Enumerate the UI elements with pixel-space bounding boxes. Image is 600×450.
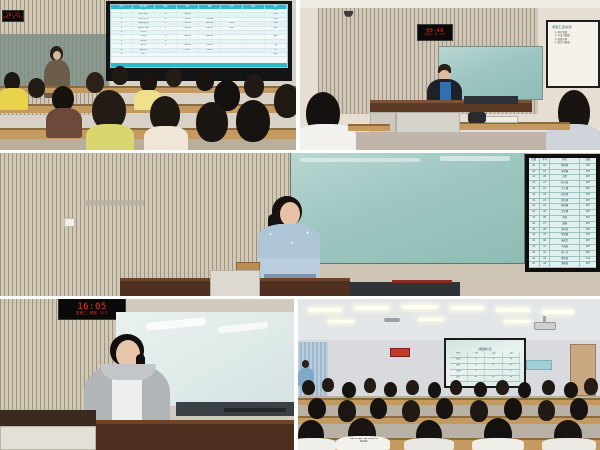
projected-spreadsheet: 序号 项目名称 数量 单价 金额 比例 备注 合计 1合计12002教学 经费1…: [110, 4, 288, 68]
roster-cell: 33: [540, 257, 551, 262]
spreadsheet-cell: [177, 40, 199, 43]
spreadsheet-cell: 95: [265, 49, 287, 52]
spreadsheet-cell: 95.00: [199, 49, 221, 52]
roster-col-head: 成绩: [580, 158, 596, 163]
roster-cell: 徐若楠: [550, 233, 579, 238]
roster-cell: 01: [529, 257, 540, 262]
led-clock-top-left: 10:35 星期三 晴 27℃: [2, 10, 24, 22]
spreadsheet-cell: 1: [155, 49, 177, 52]
ceiling: [300, 0, 600, 8]
spreadsheet-cell: 5: [155, 22, 177, 25]
spreadsheet-cell: [221, 53, 243, 56]
spreadsheet-cell: [221, 9, 243, 12]
ceiling-lamp: [542, 310, 574, 314]
student-desk: [348, 124, 390, 131]
audience-head: [518, 382, 531, 398]
spreadsheet-cell: 资料费: [133, 40, 155, 43]
roster-cell: 31: [540, 245, 551, 250]
spreadsheet-cell: [265, 31, 287, 34]
spreadsheet-cell: [243, 40, 265, 43]
spreadsheet-cell: [243, 22, 265, 25]
projected-col-head: 项目: [450, 352, 468, 357]
roster-cell: 马雨辰: [550, 245, 579, 250]
spreadsheet-cell: 630.00: [199, 27, 221, 30]
roster-cell: 487: [580, 204, 596, 209]
roster-cell: 吴文博: [550, 210, 579, 215]
spreadsheet-cell: 210.00: [177, 27, 199, 30]
roster-cell: 487: [580, 193, 596, 198]
audience-head: [370, 398, 387, 419]
roster-cell: 487: [580, 181, 596, 186]
audience-torso: [298, 438, 336, 450]
ceiling-lamp: [504, 320, 530, 323]
projector-icon: [534, 322, 556, 330]
spreadsheet-body: 1合计12002教学 经费12100.0012003实验 材料 费8150.00…: [111, 9, 287, 63]
student-head: [86, 72, 104, 93]
student-head: [196, 70, 214, 91]
roster-cell: 487: [580, 199, 596, 204]
spreadsheet-cell: 2: [111, 13, 133, 16]
projected-cell: 12: [468, 358, 486, 363]
roster-cell: 487: [580, 216, 596, 221]
audience-torso: [404, 438, 454, 450]
roster-cell: 01: [529, 262, 540, 267]
audience-head: [322, 378, 334, 392]
desk-foreground: [96, 420, 296, 450]
projected-cell: 合格: [450, 370, 468, 375]
light-switch: [64, 218, 75, 227]
spreadsheet-cell: [221, 13, 243, 16]
ceiling-fan-icon: [384, 318, 400, 322]
spreadsheet-cell: 7: [111, 35, 133, 38]
audience-head: [308, 398, 326, 419]
roster-cell: 01: [529, 170, 540, 175]
spreadsheet-cell: [243, 35, 265, 38]
audience-head: [338, 400, 356, 422]
roster-cell: 周诗琪: [550, 199, 579, 204]
spreadsheet-cell: [243, 44, 265, 47]
projected-cell: 14: [503, 358, 521, 363]
wall-monitor-roster: 班级学号姓名成绩0118陈晓明4870119李雨桐4870120刘青487012…: [525, 154, 600, 272]
spreadsheet-cell: [221, 49, 243, 52]
panel-student-beside-greenboard: 班级学号姓名成绩0118陈晓明4870119李雨桐4870120刘青487012…: [0, 152, 600, 298]
student-face: [280, 202, 300, 226]
teacher-console: [464, 96, 518, 104]
spreadsheet-cell: [199, 53, 221, 56]
spreadsheet-cell: 办公费: [133, 31, 155, 34]
audience-head: [406, 380, 419, 395]
spreadsheet-cell: [243, 9, 265, 12]
roster-cell: 34: [540, 262, 551, 267]
spreadsheet-cell: 8: [155, 18, 177, 21]
audience-head: [584, 378, 598, 395]
panel-student-in-grey-hoodie: 16:05 星期三 晴度 22℃: [0, 298, 296, 450]
roster-cell: 18: [540, 164, 551, 169]
projected-slide: 课程汇报提纲 1. 研究背景 2. 方法与数据 3. 结果分析 4. 结论与展望: [546, 20, 600, 88]
spreadsheet-cell: 1: [111, 9, 133, 12]
roster-cell: 487: [580, 210, 596, 215]
roster-col-head: 班级: [529, 158, 540, 163]
projector-mount: [543, 316, 546, 323]
wall-notice: [526, 360, 552, 370]
student-torso: [86, 124, 134, 152]
console-left: [0, 410, 96, 426]
panel-large-lecture-hall: 成绩统计表项目一班二班三班优秀121014良好202219合格876总计4039…: [298, 298, 600, 450]
student-head: [244, 74, 264, 98]
roster-cell: 何丽: [550, 216, 579, 221]
spreadsheet-cell: 1200.00: [199, 18, 221, 21]
spreadsheet-cell: 差旅费 报销: [133, 27, 155, 30]
roster-cell: 141: [580, 257, 596, 262]
roster-cell: 21: [540, 181, 551, 186]
spreadsheet-cell: 5: [111, 27, 133, 30]
board-glare: [300, 158, 420, 162]
audience-head: [504, 398, 522, 420]
roster-cell: 01: [529, 245, 540, 250]
roster-cell: 487: [580, 170, 596, 175]
spreadsheet-cell: [221, 31, 243, 34]
led-clock-sub: 星期三 晴 26℃: [424, 34, 445, 37]
audience-head: [428, 382, 441, 398]
pointer-stick: [392, 280, 452, 283]
spreadsheet-cell: [243, 27, 265, 30]
spreadsheet-cell: [243, 18, 265, 21]
exit-sign: [390, 348, 410, 357]
projected-cell: 22: [485, 364, 503, 369]
spreadsheet-cell: 总计: [133, 53, 155, 56]
spreadsheet-footer-band: [111, 63, 287, 67]
roster-cell: 25: [540, 210, 551, 215]
spreadsheet-cell: [221, 18, 243, 21]
spreadsheet-cell: 10: [111, 49, 133, 52]
roster-cell: 刘青: [550, 175, 579, 180]
roster-cell: 01: [529, 216, 540, 221]
bag-on-desk: [468, 112, 486, 123]
spreadsheet-cell: 8: [111, 40, 133, 43]
ceiling: [298, 298, 600, 340]
roster-cell: 487: [580, 233, 596, 238]
divider-horizontal-lower: [0, 296, 600, 299]
spreadsheet-cell: 800.00: [199, 35, 221, 38]
roster-cell: 487: [580, 251, 596, 256]
audience-head: [474, 382, 487, 397]
spreadsheet-cell: 4: [111, 22, 133, 25]
student-head: [140, 72, 157, 92]
spreadsheet-cell: 4: [155, 44, 177, 47]
books-on-desk: [484, 116, 518, 123]
spreadsheet-cell: 12: [155, 13, 177, 16]
roster-col-head: 姓名: [550, 158, 579, 163]
spreadsheet-cell: 1200: [265, 18, 287, 21]
podium-cabinet: [210, 270, 260, 298]
spreadsheet-cell: 720.00: [199, 44, 221, 47]
led-clock-sub: 星期三 晴 27℃: [3, 17, 23, 19]
spreadsheet-cell: [265, 40, 287, 43]
ceiling-lamp: [402, 305, 438, 309]
roster-table: 班级学号姓名成绩0118陈晓明4870119李雨桐4870120刘青487012…: [529, 158, 596, 268]
roster-col-head: 学号: [540, 158, 551, 163]
spreadsheet-cell: 6245: [265, 53, 287, 56]
green-writing-board: [290, 152, 525, 264]
spreadsheet-cell: [177, 53, 199, 56]
roster-cell: 487: [580, 228, 596, 233]
student-torso: [0, 88, 28, 110]
audience-head: [450, 380, 462, 395]
divider-vertical-bottom: [294, 298, 298, 450]
student-torso: [46, 108, 82, 138]
roster-cell: 郑可欣: [550, 228, 579, 233]
spreadsheet-cell: 3: [155, 27, 177, 30]
spreadsheet-cell: 合计: [133, 9, 155, 12]
spreadsheet-cell: [243, 13, 265, 16]
roster-cell: 19: [540, 170, 551, 175]
spreadsheet-cell: 其他支出: [133, 49, 155, 52]
projected-cell: 8: [468, 370, 486, 375]
roster-cell: 487: [580, 245, 596, 250]
spreadsheet-cell: [155, 53, 177, 56]
audience-head: [470, 400, 488, 422]
spreadsheet-cell: 1600: [265, 22, 287, 25]
spreadsheet-cell: 12.00: [221, 22, 243, 25]
roster-cell: 01: [529, 222, 540, 227]
spreadsheet-cell: 800: [265, 35, 287, 38]
student-head: [112, 66, 128, 85]
projected-cell: 良好: [450, 364, 468, 369]
projected-cell: 6: [503, 370, 521, 375]
spreadsheet-cell: 9: [111, 44, 133, 47]
tshirt-print: GET OVER THE LOVE OF MUSIC: [350, 438, 378, 447]
roster-cell: 487: [580, 175, 596, 180]
roster-cell: 32: [540, 251, 551, 256]
spreadsheet-cell: 设备购置费: [133, 22, 155, 25]
spreadsheet-cell: [243, 53, 265, 56]
roster-row: 0134谢昕怡487: [529, 262, 596, 268]
roster-cell: 01: [529, 164, 540, 169]
spreadsheet-cell: 教学 经费: [133, 13, 155, 16]
audience-torso: [542, 438, 596, 450]
spreadsheet-cell: 6: [155, 40, 177, 43]
roster-cell: 27: [540, 222, 551, 227]
roster-cell: 24: [540, 204, 551, 209]
audience-head: [564, 382, 578, 398]
student-head: [166, 68, 182, 87]
ceiling-lamp: [418, 318, 444, 321]
audience-head: [302, 380, 315, 395]
roster-cell: 郭宇航: [550, 257, 579, 262]
projected-cell: 优秀: [450, 358, 468, 363]
instructor-face: [53, 51, 61, 60]
audience-head: [342, 382, 356, 398]
panel-lecturer-with-spreadsheet: 10:35 星期三 晴 27℃ 序号 项目名称 数量 单价 金额 比例 备注 合…: [0, 0, 298, 152]
roster-cell: 22: [540, 193, 551, 198]
projected-cell: 19: [503, 364, 521, 369]
roster-cell: 487: [580, 222, 596, 227]
divider-vertical-top: [296, 0, 300, 152]
spreadsheet-cell: 2: [155, 35, 177, 38]
roster-cell: 487: [580, 187, 596, 192]
spreadsheet-cell: 100.00: [177, 13, 199, 16]
ceiling-lamp: [450, 306, 484, 310]
roster-cell: 谢昕怡: [550, 262, 579, 267]
spreadsheet-cell: 1200: [265, 9, 287, 12]
slide-bullet: 4. 结论与展望: [552, 41, 594, 44]
audience-head: [538, 400, 555, 421]
spreadsheet-cell: 3: [111, 18, 133, 21]
projected-col-head: 一班: [468, 352, 486, 357]
roster-cell: 23: [540, 199, 551, 204]
ceiling-lamp: [496, 308, 530, 312]
slide-title: 课程汇报提纲: [552, 25, 594, 29]
spreadsheet-cell: [199, 13, 221, 16]
roster-cell: 01: [529, 210, 540, 215]
spreadsheet-cell: [177, 9, 199, 12]
roster-cell: 28: [540, 228, 551, 233]
roster-cell: 陈晓明: [550, 164, 579, 169]
student-top-pattern: [258, 224, 320, 258]
roster-cell: 01: [529, 175, 540, 180]
roster-cell: 01: [529, 199, 540, 204]
student-head: [28, 78, 45, 98]
spreadsheet-cell: 维护费: [133, 44, 155, 47]
spreadsheet-cell: [177, 31, 199, 34]
spreadsheet-cell: 95.00: [177, 49, 199, 52]
roster-cell: 01: [529, 239, 540, 244]
board-glare: [440, 156, 510, 161]
roster-cell: 20: [540, 175, 551, 180]
ceiling-lamp: [354, 306, 390, 310]
spreadsheet-cell: [221, 40, 243, 43]
roster-cell: 01: [529, 204, 540, 209]
audience-head: [384, 382, 397, 397]
projected-cell: 40: [468, 376, 486, 381]
roster-cell: 01: [529, 193, 540, 198]
ceiling-lamp: [328, 320, 354, 323]
led-clock-top-right: 09:48 星期三 晴 26℃: [417, 24, 453, 41]
audience-head: [436, 398, 453, 419]
spreadsheet-cell: 150.00: [177, 18, 199, 21]
led-clock-sub: 星期三 晴度 22℃: [76, 312, 108, 316]
student-head: [196, 102, 228, 142]
student-head: [236, 100, 270, 142]
roster-cell: 30: [540, 239, 551, 244]
spreadsheet-cell: 630: [265, 27, 287, 30]
spreadsheet-cell: [243, 49, 265, 52]
projected-cell: 20: [468, 364, 486, 369]
student-torso: [144, 126, 188, 152]
roster-cell: 高一凡: [550, 251, 579, 256]
roster-cell: 黄静: [550, 222, 579, 227]
spreadsheet-cell: [155, 31, 177, 34]
spreadsheet-cell: 实验 材料 费: [133, 18, 155, 21]
roster-cell: 林思睿: [550, 204, 579, 209]
roster-cell: 487: [580, 239, 596, 244]
roster-cell: 29: [540, 233, 551, 238]
desk-edge: [96, 420, 296, 424]
wall-sign: [84, 200, 144, 206]
spreadsheet-cell: 400.00: [177, 35, 199, 38]
spreadsheet-cell: [199, 9, 221, 12]
ceiling-lamp: [308, 308, 342, 312]
audience-head: [496, 380, 509, 395]
roster-cell: 01: [529, 233, 540, 238]
audience-head: [570, 398, 588, 420]
divider-horizontal-upper: [0, 150, 600, 153]
spreadsheet-cell: [199, 31, 221, 34]
roster-cell: 01: [529, 228, 540, 233]
spreadsheet-cell: 180.00: [177, 44, 199, 47]
audience-head: [364, 378, 376, 393]
spreadsheet-cell: 8.00: [221, 27, 243, 30]
roster-cell: 王子涵: [550, 187, 579, 192]
roster-cell: 朱俊杰: [550, 239, 579, 244]
hoodie-hood: [100, 364, 156, 380]
spreadsheet-cell: [155, 9, 177, 12]
spreadsheet-cell: [243, 31, 265, 34]
student-desk: [460, 122, 570, 130]
spreadsheet-cell: [199, 40, 221, 43]
roster-cell: 487: [580, 164, 596, 169]
spreadsheet-cell: [221, 44, 243, 47]
audience-head: [542, 380, 555, 395]
spreadsheet-cell: 720: [265, 44, 287, 47]
roster-cell: 01: [529, 181, 540, 186]
pointer-stick: [224, 408, 286, 412]
panel-student-presenting-at-podium: 09:48 星期三 晴 26℃ 课程汇报提纲 1. 研究背景 2. 方法与数据 …: [300, 0, 600, 152]
spreadsheet-cell: 培训费: [133, 35, 155, 38]
spreadsheet-cell: 1200: [265, 13, 287, 16]
audience-torso: [472, 438, 524, 450]
roster-cell: 李雨桐: [550, 170, 579, 175]
spreadsheet-cell: 11: [111, 53, 133, 56]
audience-head: [402, 400, 420, 422]
spreadsheet-cell: 1600.00: [199, 22, 221, 25]
roster-cell: 01: [529, 187, 540, 192]
cabinet-left: [0, 426, 96, 450]
projected-cell: 10: [485, 358, 503, 363]
roster-cell: 赵心怡: [550, 181, 579, 186]
photo-collage: 10:35 星期三 晴 27℃ 序号 项目名称 数量 单价 金额 比例 备注 合…: [0, 0, 600, 450]
spreadsheet-cell: 6: [111, 31, 133, 34]
projected-row: 总计403939: [450, 376, 520, 382]
instructor-head: [302, 360, 309, 368]
projected-col-head: 二班: [485, 352, 503, 357]
roster-cell: 487: [580, 262, 596, 267]
roster-cell: 26: [540, 216, 551, 221]
student-head: [274, 84, 298, 118]
projected-cell: 7: [485, 370, 503, 375]
spreadsheet-cell: [221, 35, 243, 38]
roster-cell: 孙佳慧: [550, 193, 579, 198]
roster-cell: 21: [540, 187, 551, 192]
projected-col-head: 三班: [503, 352, 521, 357]
spreadsheet-cell: 320.00: [177, 22, 199, 25]
roster-cell: 01: [529, 251, 540, 256]
projected-table: 成绩统计表项目一班二班三班优秀121014良好202219合格876总计4039…: [450, 348, 520, 382]
spreadsheet-row: 11总计6245: [111, 53, 287, 57]
